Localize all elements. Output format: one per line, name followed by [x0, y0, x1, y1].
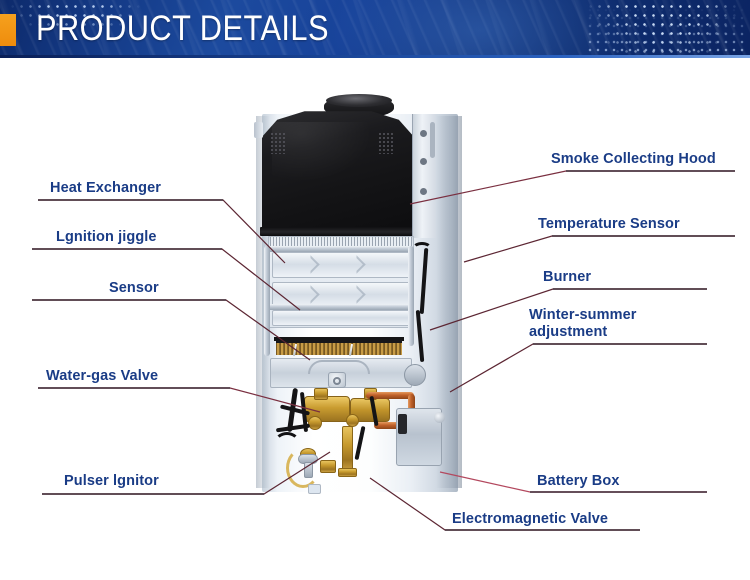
- gas-inlet-nut: [338, 468, 357, 477]
- battery-box-latch: [398, 414, 407, 434]
- label-temperature-sensor: Temperature Sensor: [538, 216, 680, 232]
- label-water-gas-valve: Water-gas Valve: [46, 368, 158, 384]
- hood-vent-left: [270, 132, 286, 154]
- bracket-hole-2: [420, 158, 427, 165]
- heat-exchanger-band-3: [272, 310, 410, 326]
- winter-summer-adjustment-part: [404, 364, 426, 386]
- water-pipe-mid: [264, 304, 414, 310]
- cable-plug: [308, 484, 321, 494]
- label-pulser-ignitor: Pulser lgnitor: [64, 473, 159, 489]
- hood-sheen: [272, 122, 372, 182]
- label-ignition-jiggle: Lgnition jiggle: [56, 229, 157, 245]
- page-header-banner: PRODUCT DETAILS: [0, 0, 750, 58]
- leader-temperature-sensor: [464, 236, 735, 262]
- hood-bottom-lip: [260, 227, 416, 236]
- gas-inlet-tube: [342, 426, 353, 472]
- electromagnetic-valve-part: [320, 460, 336, 473]
- heat-exchanger-band-1: [272, 252, 410, 278]
- leader-winter-summer: [450, 344, 707, 392]
- manifold-knob-ring: [333, 377, 341, 385]
- banner-bottom-rule: [0, 55, 750, 58]
- page-title: PRODUCT DETAILS: [36, 9, 329, 49]
- bracket-hole-1: [420, 130, 427, 137]
- orange-accent-tab: [0, 14, 16, 46]
- brass-nipple-1: [314, 388, 328, 400]
- wall-hanger-left: [254, 122, 263, 138]
- label-electromagnetic-valve: Electromagnetic Valve: [452, 511, 608, 527]
- brass-cap-1: [308, 416, 322, 430]
- yellow-ignition-cable: [286, 448, 320, 488]
- temperature-sensor-part: [412, 242, 432, 256]
- bracket-slot: [430, 122, 435, 158]
- hood-vent-right: [378, 132, 394, 154]
- label-battery-box: Battery Box: [537, 473, 620, 489]
- water-pipe-right-riser: [408, 246, 414, 346]
- water-pipe-left-riser: [264, 246, 270, 356]
- label-smoke-collecting-hood: Smoke Collecting Hood: [551, 151, 716, 167]
- battery-box-cap: [434, 412, 445, 423]
- water-pipe-top: [264, 246, 414, 252]
- flue-outlet-rim: [326, 94, 392, 107]
- label-heat-exchanger: Heat Exchanger: [50, 180, 161, 196]
- halftone-dots-globe-lower: [586, 6, 746, 58]
- label-sensor: Sensor: [109, 280, 159, 296]
- label-winter-summer-adjustment: Winter-summer adjustment: [529, 307, 669, 340]
- product-illustration: [246, 96, 468, 500]
- label-burner: Burner: [543, 269, 591, 285]
- bracket-hole-3: [420, 188, 427, 195]
